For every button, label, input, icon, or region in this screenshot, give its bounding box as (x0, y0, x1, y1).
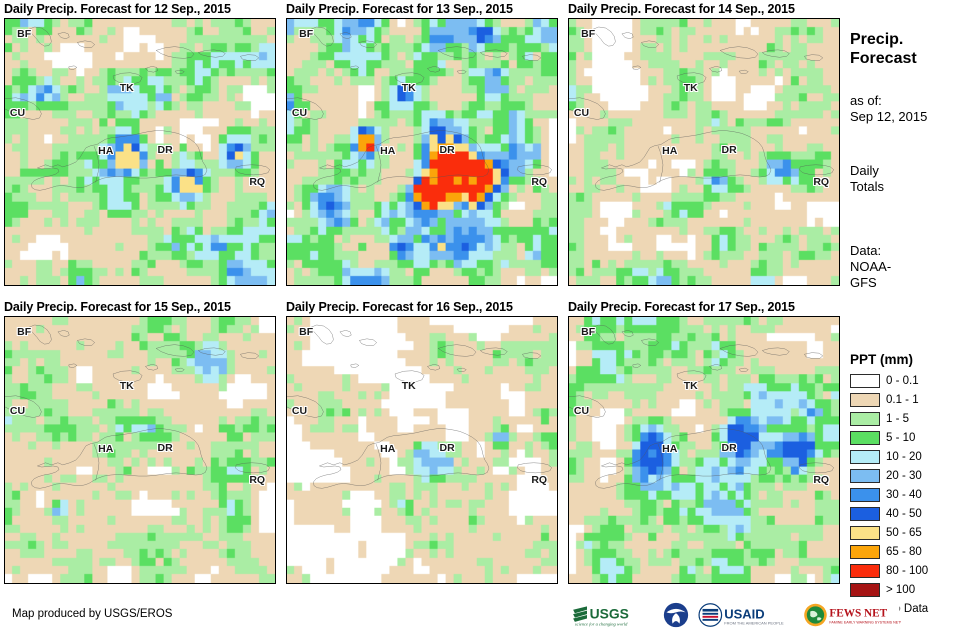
country-label-tk: TK (684, 380, 698, 392)
sidebar-title-line2: Forecast (850, 49, 917, 68)
legend-row: 80 - 100 (850, 561, 970, 580)
precip-raster (5, 317, 275, 583)
legend-row: 5 - 10 (850, 428, 970, 447)
legend-label: 10 - 20 (886, 451, 922, 463)
country-label-cu: CU (574, 405, 589, 417)
svg-text:FROM THE AMERICAN PEOPLE: FROM THE AMERICAN PEOPLE (724, 621, 784, 626)
country-label-cu: CU (574, 107, 589, 119)
legend-swatch (850, 374, 880, 388)
precip-map[interactable]: BFTKCUHADRRQ (286, 316, 558, 584)
svg-text:USAID: USAID (724, 606, 764, 621)
country-label-ha: HA (380, 443, 395, 455)
country-label-rq: RQ (531, 176, 547, 188)
legend-label: 0 - 0.1 (886, 375, 919, 387)
legend-label: 65 - 80 (886, 546, 922, 558)
country-label-rq: RQ (249, 474, 265, 486)
legend-label: 50 - 65 (886, 527, 922, 539)
country-label-tk: TK (120, 380, 134, 392)
country-label-tk: TK (402, 380, 416, 392)
precip-raster (569, 317, 839, 583)
country-label-dr: DR (722, 144, 737, 156)
legend-swatch (850, 393, 880, 407)
as-of-label: as of: (850, 93, 927, 109)
country-label-cu: CU (292, 107, 307, 119)
forecast-panel: Daily Precip. Forecast for 15 Sep., 2015… (4, 300, 280, 590)
legend-title: PPT (mm) (850, 352, 970, 367)
panel-title: Daily Precip. Forecast for 17 Sep., 2015 (568, 300, 844, 316)
legend-row: 40 - 50 (850, 504, 970, 523)
legend-swatch (850, 431, 880, 445)
map-credit: Map produced by USGS/EROS (12, 608, 172, 620)
legend-swatch (850, 469, 880, 483)
as-of-block: as of: Sep 12, 2015 (850, 93, 927, 125)
panel-title: Daily Precip. Forecast for 13 Sep., 2015 (286, 2, 562, 18)
country-label-bf: BF (299, 28, 313, 40)
forecast-panel: Daily Precip. Forecast for 12 Sep., 2015… (4, 2, 280, 292)
fewsnet-logo: FEWS NET FAMINE EARLY WARNING SYSTEMS NE… (801, 602, 901, 628)
legend-label: 30 - 40 (886, 489, 922, 501)
data-source-line2: GFS (850, 275, 891, 291)
country-label-bf: BF (17, 326, 31, 338)
forecast-panel: Daily Precip. Forecast for 16 Sep., 2015… (286, 300, 562, 590)
legend-label: 5 - 10 (886, 432, 915, 444)
precip-map[interactable]: BFTKCUHADRRQ (568, 18, 840, 286)
legend-label: 80 - 100 (886, 565, 928, 577)
legend-label: 20 - 30 (886, 470, 922, 482)
legend-row: 0.1 - 1 (850, 390, 970, 409)
country-label-dr: DR (158, 144, 173, 156)
country-label-bf: BF (581, 326, 595, 338)
totals-line2: Totals (850, 179, 884, 195)
legend-label: 40 - 50 (886, 508, 922, 520)
legend-swatch (850, 564, 880, 578)
country-label-dr: DR (440, 442, 455, 454)
svg-text:science for a changing world: science for a changing world (575, 621, 628, 626)
country-label-bf: BF (17, 28, 31, 40)
legend-row: 65 - 80 (850, 542, 970, 561)
legend-label: > 100 (886, 584, 915, 596)
legend-swatch (850, 545, 880, 559)
data-source-line1: NOAA- (850, 259, 891, 275)
usgs-logo: USGS science for a changing world (570, 602, 656, 628)
as-of-date: Sep 12, 2015 (850, 109, 927, 125)
country-label-ha: HA (380, 145, 395, 157)
sidebar-title: Precip. Forecast (850, 30, 917, 68)
legend-swatch (850, 507, 880, 521)
country-label-rq: RQ (249, 176, 265, 188)
country-label-ha: HA (662, 443, 677, 455)
noaa-logo (663, 602, 689, 628)
panel-title: Daily Precip. Forecast for 14 Sep., 2015 (568, 2, 844, 18)
country-label-bf: BF (581, 28, 595, 40)
panel-title: Daily Precip. Forecast for 16 Sep., 2015 (286, 300, 562, 316)
country-label-tk: TK (120, 82, 134, 94)
country-label-rq: RQ (813, 176, 829, 188)
svg-text:USGS: USGS (590, 605, 629, 621)
country-label-dr: DR (158, 442, 173, 454)
legend: PPT (mm) 0 - 0.10.1 - 11 - 55 - 1010 - 2… (850, 352, 970, 618)
country-label-bf: BF (299, 326, 313, 338)
precip-map[interactable]: BFTKCUHADRRQ (4, 316, 276, 584)
country-label-ha: HA (98, 145, 113, 157)
legend-swatch (850, 412, 880, 426)
forecast-panel-grid: Daily Precip. Forecast for 12 Sep., 2015… (0, 0, 845, 600)
agency-logos: USGS science for a changing world USAID … (570, 600, 901, 630)
country-label-cu: CU (292, 405, 307, 417)
country-label-tk: TK (402, 82, 416, 94)
legend-swatch (850, 450, 880, 464)
country-label-rq: RQ (531, 474, 547, 486)
legend-swatch (850, 488, 880, 502)
forecast-panel: Daily Precip. Forecast for 17 Sep., 2015… (568, 300, 844, 590)
data-source-label: Data: (850, 243, 891, 259)
legend-row: 1 - 5 (850, 409, 970, 428)
sidebar-title-line1: Precip. (850, 30, 917, 49)
country-label-tk: TK (684, 82, 698, 94)
legend-label: 1 - 5 (886, 413, 909, 425)
legend-swatch (850, 526, 880, 540)
forecast-panel: Daily Precip. Forecast for 13 Sep., 2015… (286, 2, 562, 292)
legend-row: 30 - 40 (850, 485, 970, 504)
legend-row: 10 - 20 (850, 447, 970, 466)
country-label-ha: HA (662, 145, 677, 157)
svg-text:FAMINE EARLY WARNING SYSTEMS N: FAMINE EARLY WARNING SYSTEMS NETWORK (829, 621, 901, 625)
country-label-dr: DR (440, 144, 455, 156)
precip-map[interactable]: BFTKCUHADRRQ (568, 316, 840, 584)
panel-title: Daily Precip. Forecast for 12 Sep., 2015 (4, 2, 280, 18)
precip-map[interactable]: BFTKCUHADRRQ (4, 18, 276, 286)
country-label-cu: CU (10, 107, 25, 119)
sidebar: Precip. Forecast as of: Sep 12, 2015 Dai… (846, 0, 970, 635)
data-source-block: Data: NOAA- GFS (850, 243, 891, 291)
legend-row: 50 - 65 (850, 523, 970, 542)
precip-raster (5, 19, 275, 285)
totals-line1: Daily (850, 163, 884, 179)
precip-raster (287, 19, 557, 285)
forecast-panel: Daily Precip. Forecast for 14 Sep., 2015… (568, 2, 844, 292)
svg-text:FEWS NET: FEWS NET (829, 608, 887, 620)
precip-map[interactable]: BFTKCUHADRRQ (286, 18, 558, 286)
country-label-rq: RQ (813, 474, 829, 486)
country-label-ha: HA (98, 443, 113, 455)
country-label-cu: CU (10, 405, 25, 417)
precip-raster (287, 317, 557, 583)
legend-row: 0 - 0.1 (850, 371, 970, 390)
panel-title: Daily Precip. Forecast for 15 Sep., 2015 (4, 300, 280, 316)
legend-rows: 0 - 0.10.1 - 11 - 55 - 1010 - 2020 - 303… (850, 371, 970, 618)
legend-row: 20 - 30 (850, 466, 970, 485)
legend-label: 0.1 - 1 (886, 394, 919, 406)
totals-block: Daily Totals (850, 163, 884, 195)
precip-raster (569, 19, 839, 285)
legend-swatch (850, 583, 880, 597)
legend-row: > 100 (850, 580, 970, 599)
country-label-dr: DR (722, 442, 737, 454)
usaid-logo: USAID FROM THE AMERICAN PEOPLE (696, 602, 794, 628)
